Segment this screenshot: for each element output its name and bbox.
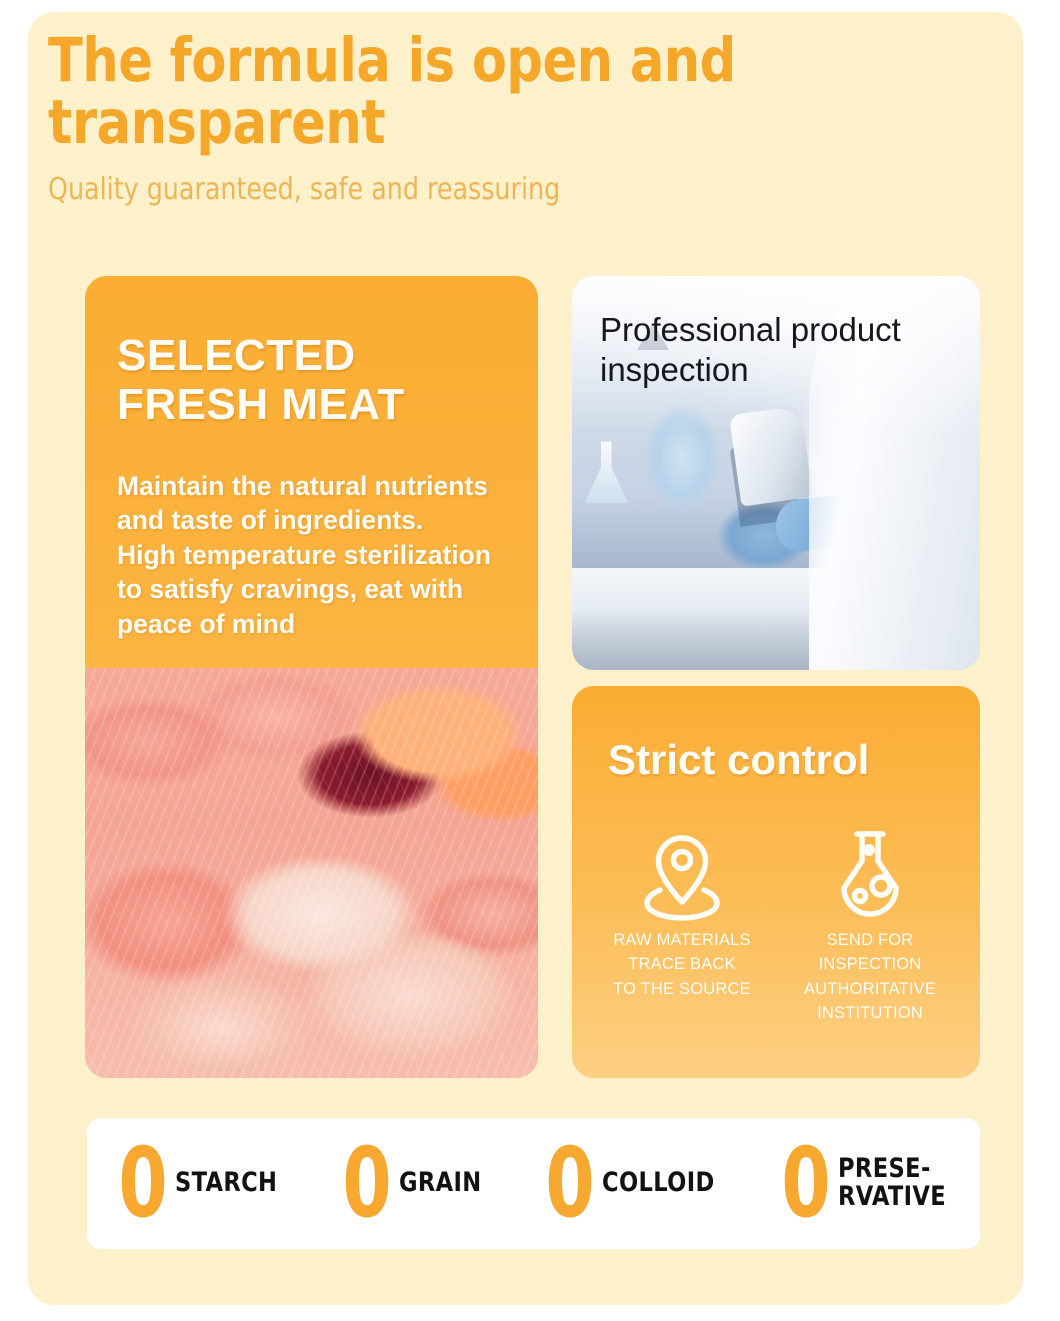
caption-line: TO THE SOURCE [588, 977, 776, 1001]
zero-item-starch: 0 STARCH [113, 1140, 285, 1226]
promo-page: The formula is open and transparent Qual… [0, 0, 1060, 1321]
page-title: The formula is open and transparent [48, 30, 866, 154]
meat-body-line: High temperature sterilization [117, 538, 529, 572]
card-selected-fresh-meat[interactable]: SELECTED FRESH MEAT Maintain the natural… [85, 276, 538, 1078]
zero-claims-bar: 0 STARCH 0 GRAIN 0 COLLOID 0 PRESE- RVAT… [87, 1118, 980, 1249]
zero-number: 0 [546, 1140, 595, 1226]
meat-card-body: Maintain the natural nutrients and taste… [117, 469, 529, 641]
header: The formula is open and transparent Qual… [48, 30, 928, 206]
strict-card-title: Strict control [608, 736, 869, 784]
zero-label: GRAIN [399, 1169, 482, 1197]
zero-number: 0 [781, 1140, 830, 1226]
meat-body-line: Maintain the natural nutrients [117, 469, 529, 503]
zero-label: STARCH [175, 1169, 277, 1197]
zero-item-colloid: 0 COLLOID [540, 1140, 723, 1226]
location-pin-icon [588, 820, 776, 928]
zero-item-preservative: 0 PRESE- RVATIVE [776, 1140, 954, 1226]
fish-fillets-photo [85, 668, 538, 1078]
caption-line: RAW MATERIALS [588, 928, 776, 952]
caption-line: SEND FOR INSPECTION [776, 928, 964, 977]
meat-card-title: SELECTED FRESH MEAT [117, 331, 517, 430]
caption-line: TRACE BACK [588, 952, 776, 976]
lab-card-title: Professional product inspection [600, 310, 930, 389]
caption-line: INSTITUTION [776, 1001, 964, 1025]
card-strict-control[interactable]: Strict control RAW MATERIALS TRACE BACK … [572, 686, 980, 1078]
strict-item-send-for-inspection[interactable]: SEND FOR INSPECTION AUTHORITATIVE INSTIT… [776, 820, 964, 1026]
strict-item-raw-materials[interactable]: RAW MATERIALS TRACE BACK TO THE SOURCE [588, 820, 776, 1026]
meat-body-line: and taste of ingredients. [117, 503, 529, 537]
flask-icon [776, 820, 964, 928]
zero-label: PRESE- RVATIVE [838, 1155, 946, 1211]
card-professional-inspection[interactable]: Professional product inspection [572, 276, 980, 670]
strict-item-caption: RAW MATERIALS TRACE BACK TO THE SOURCE [588, 928, 776, 1001]
zero-label: COLLOID [602, 1169, 715, 1197]
lab-flask-shape [584, 441, 628, 503]
meat-body-line: to satisfy cravings, eat with [117, 572, 529, 606]
zero-number: 0 [118, 1140, 167, 1226]
zero-item-grain: 0 GRAIN [337, 1140, 488, 1226]
caption-line: AUTHORITATIVE [776, 977, 964, 1001]
zero-number: 0 [343, 1140, 392, 1226]
meat-body-line: peace of mind [117, 607, 529, 641]
page-subtitle: Quality guaranteed, safe and reassuring [48, 173, 875, 206]
strict-items: RAW MATERIALS TRACE BACK TO THE SOURCE [588, 820, 964, 1026]
strict-item-caption: SEND FOR INSPECTION AUTHORITATIVE INSTIT… [776, 928, 964, 1026]
